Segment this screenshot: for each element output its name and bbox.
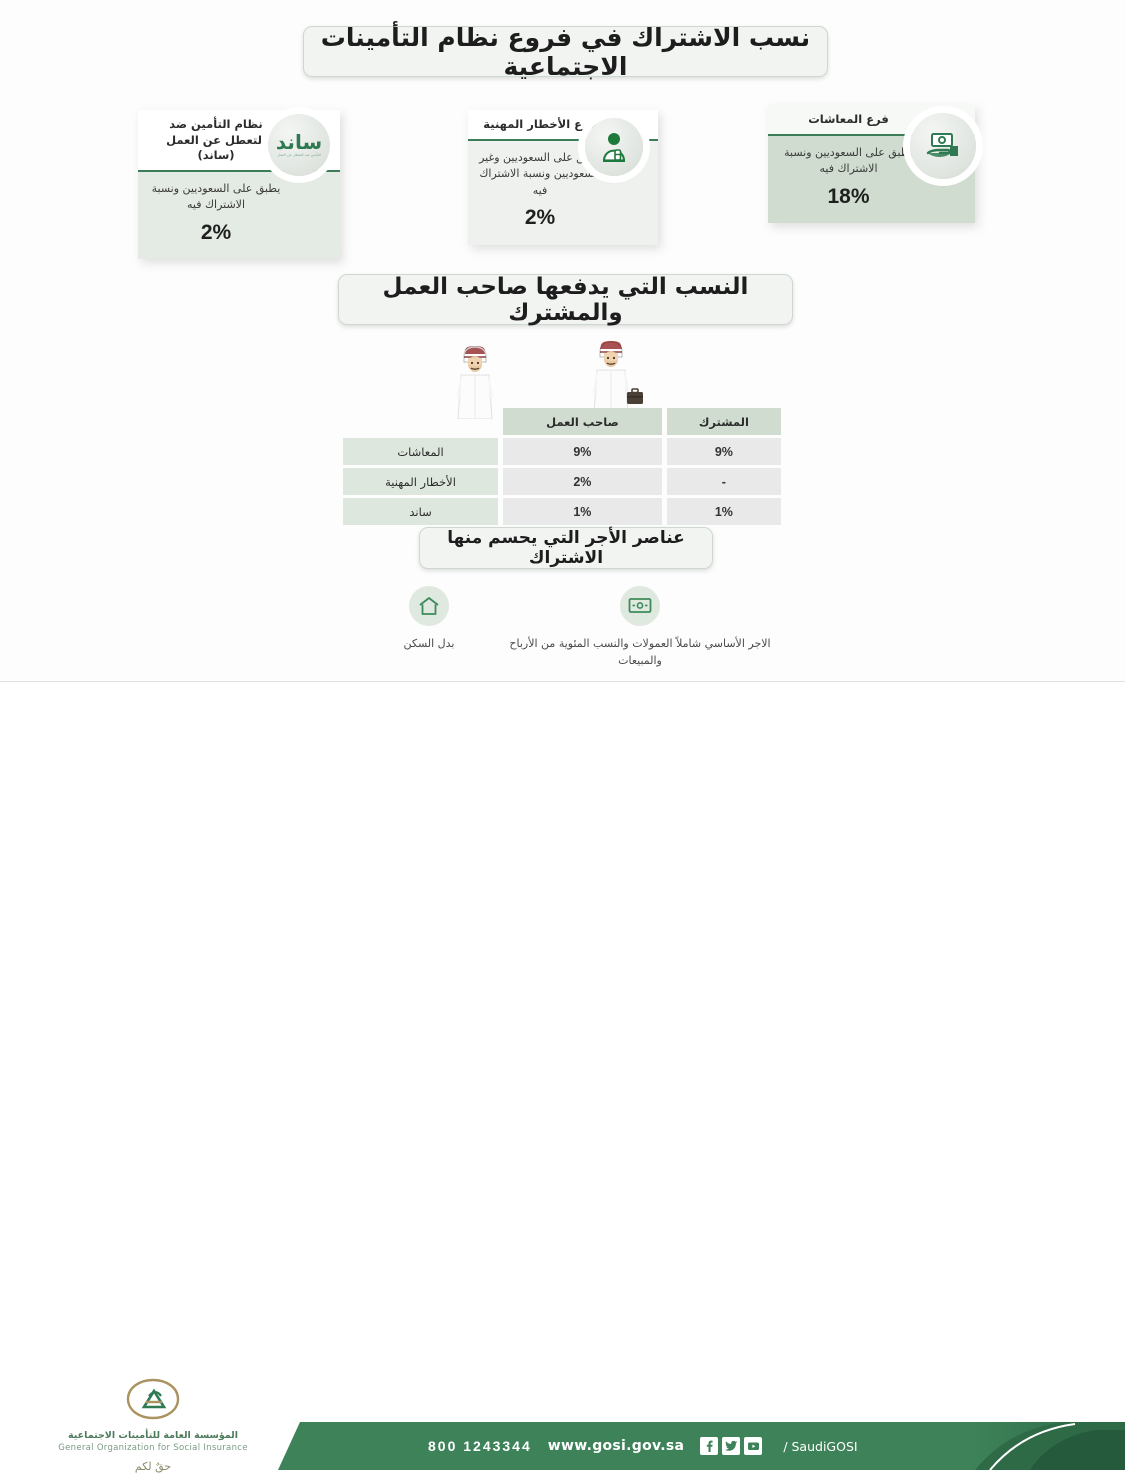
wage-element-basic: الاجر الأساسي شاملاً العمولات والنسب الم…: [490, 586, 790, 669]
banknote-icon: [620, 586, 660, 626]
employer-figure: [600, 340, 646, 414]
cell-employer-pensions: 9%: [503, 438, 662, 465]
gosi-emblem-icon: [122, 1377, 184, 1423]
branch-card-pensions-percent: 18%: [778, 181, 919, 213]
footer-phone[interactable]: 800 1243344: [428, 1438, 532, 1454]
saned-logo-word: ساند: [276, 132, 322, 152]
briefcase-icon: [627, 389, 643, 404]
branch-card-hazards-text: يطبق على السعوديين وغير السعوديين ونسبة …: [479, 151, 601, 197]
table-row: - 2% الأخطار المهنية: [343, 468, 781, 495]
footer-social-handle[interactable]: / SaudiGOSI: [783, 1439, 857, 1454]
cell-subscriber-pensions: 9%: [667, 438, 781, 465]
branch-card-saned-body: يطبق على السعوديين ونسبة الاشتراك فيه 2%: [138, 172, 340, 260]
gosi-name-arabic: المؤسسة العامة للتأمينات الاجتماعية: [28, 1430, 278, 1441]
table-row: 1% 1% ساند: [343, 498, 781, 525]
house-icon: [409, 586, 449, 626]
page-title: نسب الاشتراك في فروع نظام التأمينات الاج…: [303, 26, 828, 77]
column-header-subscriber: المشترك: [667, 408, 781, 435]
cell-subscriber-saned: 1%: [667, 498, 781, 525]
branch-card-saned-percent: 2%: [148, 217, 284, 249]
gosi-logo: المؤسسة العامة للتأمينات الاجتماعية Gene…: [28, 1377, 278, 1473]
gosi-tagline: حقٌ لكم: [28, 1460, 278, 1473]
wage-element-housing: بدل السكن: [381, 586, 477, 653]
twitter-icon[interactable]: [722, 1437, 740, 1455]
youtube-icon[interactable]: [744, 1437, 762, 1455]
infographic-page: نسب الاشتراك في فروع نظام التأمينات الاج…: [0, 0, 1125, 812]
wage-element-housing-caption: بدل السكن: [404, 636, 455, 653]
table-header-row: المشترك صاحب العمل: [343, 408, 781, 435]
cell-subscriber-hazards: -: [667, 468, 781, 495]
saned-logo-icon: ساند التأمين ضد التعطل عن العمل: [268, 114, 330, 176]
branch-card-saned-text: يطبق على السعوديين ونسبة الاشتراك فيه: [152, 182, 281, 212]
gosi-name-english: General Organization for Social Insuranc…: [28, 1443, 278, 1453]
row-label-pensions: المعاشات: [343, 438, 498, 465]
branch-card-hazards-percent: 2%: [478, 202, 602, 234]
cell-employer-saned: 1%: [503, 498, 662, 525]
rates-table: المشترك صاحب العمل 9% 9% المعاشات - 2% ا…: [338, 405, 786, 528]
footer: المؤسسة العامة للتأمينات الاجتماعية Gene…: [0, 682, 1125, 812]
saned-logo-subtext: التأمين ضد التعطل عن العمل: [277, 154, 321, 158]
footer-swoosh-decoration: [935, 1422, 1125, 1470]
column-header-branch: [343, 408, 498, 435]
facebook-icon[interactable]: [700, 1437, 718, 1455]
row-label-saned: ساند: [343, 498, 498, 525]
column-header-employer: صاحب العمل: [503, 408, 662, 435]
table-row: 9% 9% المعاشات: [343, 438, 781, 465]
hand-money-icon: [910, 113, 976, 179]
footer-website[interactable]: www.gosi.gov.sa: [548, 1438, 685, 1454]
branch-card-pensions-text: يطبق على السعوديين ونسبة الاشتراك فيه: [784, 146, 913, 176]
cell-employer-hazards: 2%: [503, 468, 662, 495]
row-label-hazards: الأخطار المهنية: [343, 468, 498, 495]
section-title-wage: عناصر الأجر التي يحسم منها الاشتراك: [419, 527, 713, 569]
wage-element-basic-caption: الاجر الأساسي شاملاً العمولات والنسب الم…: [490, 636, 790, 669]
injured-person-icon: [585, 118, 643, 176]
section-title-shares: النسب التي يدفعها صاحب العمل والمشترك: [338, 274, 793, 325]
